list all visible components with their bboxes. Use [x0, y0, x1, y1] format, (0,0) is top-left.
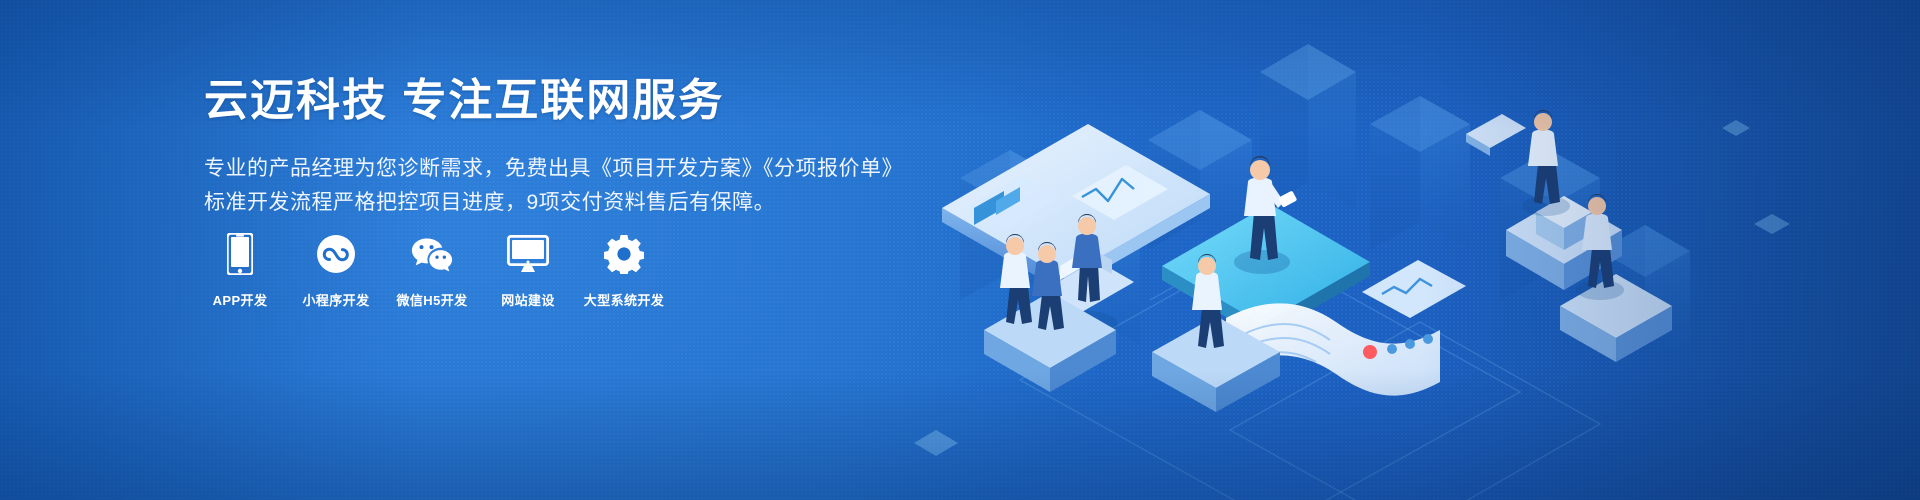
- hero-text-block: 云迈科技 专注互联网服务 专业的产品经理为您诊断需求，免费出具《项目开发方案》《…: [204, 72, 924, 220]
- service-item-large-system[interactable]: 大型系统开发: [588, 232, 660, 309]
- monitor-icon: [507, 232, 549, 276]
- service-item-mini-program[interactable]: 小程序开发: [300, 232, 372, 309]
- service-item-app[interactable]: APP开发: [204, 232, 276, 309]
- service-item-wechat-h5[interactable]: 微信H5开发: [396, 232, 468, 309]
- service-label: 大型系统开发: [584, 290, 664, 309]
- mobile-phone-icon: [219, 232, 261, 276]
- subtitle-line-2: 标准开发流程严格把控项目进度，9项交付资料售后有保障。: [204, 186, 924, 220]
- service-item-website[interactable]: 网站建设: [492, 232, 564, 309]
- isometric-illustration: [900, 0, 1920, 500]
- page-title: 云迈科技 专注互联网服务: [204, 72, 924, 130]
- service-label: 网站建设: [501, 290, 555, 309]
- wechat-icon: [411, 232, 453, 276]
- service-label: 微信H5开发: [396, 290, 467, 309]
- hero-banner: 云迈科技 专注互联网服务 专业的产品经理为您诊断需求，免费出具《项目开发方案》《…: [0, 0, 1920, 500]
- hero-subtitle: 专业的产品经理为您诊断需求，免费出具《项目开发方案》《分项报价单》 标准开发流程…: [204, 152, 924, 220]
- service-label: APP开发: [213, 290, 268, 309]
- gear-icon: [603, 232, 645, 276]
- service-label: 小程序开发: [302, 290, 369, 309]
- service-list: APP开发 小程序开发 微信: [204, 232, 660, 309]
- subtitle-line-1: 专业的产品经理为您诊断需求，免费出具《项目开发方案》《分项报价单》: [204, 152, 924, 186]
- mini-program-icon: [315, 232, 357, 276]
